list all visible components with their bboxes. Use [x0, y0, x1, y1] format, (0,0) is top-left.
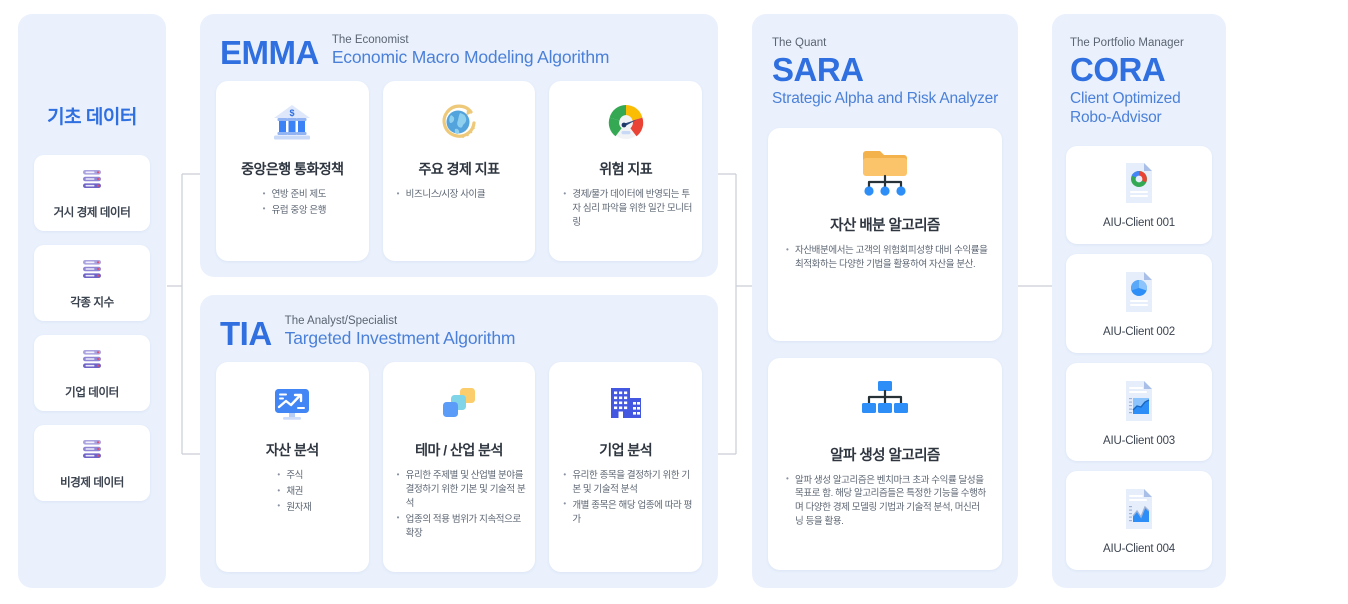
base-data-panel: 기초 데이터 거시 경제 데이터 — [18, 14, 166, 588]
doc-donut-chart-icon — [1120, 160, 1158, 211]
base-data-card-1[interactable]: 거시 경제 데이터 — [34, 155, 150, 231]
base-data-card-4[interactable]: 비경제 데이터 — [34, 425, 150, 501]
bullet-item: 자산배분에서는 고객의 위험회피성향 대비 수익률을 최적화하는 다양한 기법을… — [786, 244, 988, 272]
emma-card-title: 중앙은행 통화정책 — [241, 159, 343, 179]
bullet-item: 유리한 종목을 결정하기 위한 기본 및 기술적 분석 — [563, 469, 692, 497]
cora-client-card-1[interactable]: AIU-Client 001 — [1066, 146, 1212, 245]
gauge-icon — [603, 95, 649, 149]
cora-panel: The Portfolio Manager CORA Client Optimi… — [1052, 14, 1226, 588]
cora-client-card-3[interactable]: AIU-Client 003 — [1066, 363, 1212, 462]
diagram-root: 기초 데이터 거시 경제 데이터 — [0, 0, 1348, 604]
bullet-item: 유리한 주제별 및 산업별 분야를 결정하기 위한 기본 및 기술적 분석 — [397, 469, 526, 510]
emma-card-bullets: 경제/물가 데이터에 반영되는 투자 심리 파악을 위한 일간 모니터링 — [559, 188, 692, 231]
base-data-label: 거시 경제 데이터 — [54, 204, 131, 220]
cora-fullname: Client Optimized Robo-Advisor — [1070, 89, 1210, 128]
connector-base-to-algos — [166, 14, 200, 588]
sara-card-asset-allocation[interactable]: 자산 배분 알고리즘 자산배분에서는 고객의 위험회피성향 대비 수익률을 최적… — [768, 128, 1002, 340]
bullet-item: 경제/물가 데이터에 반영되는 투자 심리 파악을 위한 일간 모니터링 — [563, 188, 692, 229]
bullet-item: 원자재 — [277, 501, 311, 515]
cora-client-label: AIU-Client 004 — [1103, 543, 1175, 555]
bullet-item: 업종의 적용 범위가 지속적으로 확장 — [397, 513, 526, 541]
cora-header: The Portfolio Manager CORA Client Optimi… — [1066, 30, 1212, 132]
bullet-item: 연방 준비 제도 — [263, 188, 327, 202]
base-data-title: 기초 데이터 — [47, 102, 137, 129]
monitor-chart-icon — [269, 376, 315, 430]
cora-client-label: AIU-Client 001 — [1103, 217, 1175, 229]
bullet-item: 채권 — [277, 485, 311, 499]
emma-header: EMMA The Economist Economic Macro Modeli… — [216, 28, 702, 81]
building-icon — [603, 376, 649, 430]
emma-panel: EMMA The Economist Economic Macro Modeli… — [200, 14, 718, 277]
bullet-item: 개별 종목은 해당 업종에 따라 평가 — [563, 499, 692, 527]
emma-acronym: EMMA — [220, 36, 319, 69]
sara-role: The Quant — [772, 36, 1000, 51]
base-data-label: 각종 지수 — [70, 294, 114, 310]
tia-card-bullets: 유리한 주제별 및 산업별 분야를 결정하기 위한 기본 및 기술적 분석 업종… — [393, 469, 526, 542]
base-data-card-3[interactable]: 기업 데이터 — [34, 335, 150, 411]
base-data-card-2[interactable]: 각종 지수 — [34, 245, 150, 321]
emma-card-economic-indicators[interactable]: 주요 경제 지표 비즈니스/시장 사이클 — [383, 81, 536, 261]
cora-client-card-4[interactable]: AIU-Client 004 — [1066, 471, 1212, 570]
sara-card-title: 자산 배분 알고리즘 — [830, 214, 940, 235]
database-icon — [79, 166, 105, 197]
tia-card-theme-industry[interactable]: 테마 / 산업 분석 유리한 주제별 및 산업별 분야를 결정하기 위한 기본 … — [383, 362, 536, 572]
sara-fullname: Strategic Alpha and Risk Analyzer — [772, 89, 1000, 108]
org-chart-icon — [854, 376, 916, 430]
doc-pie-chart-icon — [1120, 269, 1158, 320]
tia-card-bullets: 주식 채권 원자재 — [273, 469, 311, 516]
emma-card-risk-indicators[interactable]: 위험 지표 경제/물가 데이터에 반영되는 투자 심리 파악을 위한 일간 모니… — [549, 81, 702, 261]
sara-card-title: 알파 생성 알고리즘 — [830, 444, 940, 465]
database-icon — [79, 256, 105, 287]
cora-client-card-2[interactable]: AIU-Client 002 — [1066, 254, 1212, 353]
emma-card-bullets: 비즈니스/시장 사이클 — [393, 188, 526, 204]
tia-panel: TIA The Analyst/Specialist Targeted Inve… — [200, 295, 718, 588]
doc-line-chart-icon — [1120, 486, 1158, 537]
connector-algos-to-sara — [718, 14, 752, 588]
bank-icon: $ — [269, 95, 315, 149]
tia-card-asset-analysis[interactable]: 자산 분석 주식 채권 원자재 — [216, 362, 369, 572]
bullet-item: 주식 — [277, 469, 311, 483]
tia-fullname: Targeted Investment Algorithm — [285, 328, 516, 349]
cora-client-list: AIU-Client 001 AIU-Client 002 — [1066, 146, 1212, 570]
database-icon — [79, 436, 105, 467]
sara-header: The Quant SARA Strategic Alpha and Risk … — [768, 30, 1002, 112]
layers-icon — [436, 376, 482, 430]
sara-card-bullets: 알파 생성 알고리즘은 벤치마크 초과 수익률 달성을 목표로 함. 해당 알고… — [782, 474, 988, 531]
sara-panel: The Quant SARA Strategic Alpha and Risk … — [752, 14, 1018, 588]
tia-acronym: TIA — [220, 317, 272, 350]
emma-card-row: $ 중앙은행 통화정책 — [216, 81, 702, 261]
algorithms-column: EMMA The Economist Economic Macro Modeli… — [200, 14, 718, 588]
emma-card-bullets: 연방 준비 제도 유럽 중앙 은행 — [259, 188, 327, 220]
svg-text:$: $ — [290, 108, 295, 118]
bullet-item: 비즈니스/시장 사이클 — [397, 188, 526, 202]
tia-card-row: 자산 분석 주식 채권 원자재 테마 / — [216, 362, 702, 572]
emma-card-title: 주요 경제 지표 — [418, 159, 499, 179]
bullet-item: 유럽 중앙 은행 — [263, 204, 327, 218]
emma-card-title: 위험 지표 — [599, 159, 652, 179]
emma-fullname: Economic Macro Modeling Algorithm — [332, 47, 609, 68]
globe-cycle-icon — [436, 95, 482, 149]
cora-role: The Portfolio Manager — [1070, 36, 1210, 51]
bullet-item: 알파 생성 알고리즘은 벤치마크 초과 수익률 달성을 목표로 함. 해당 알고… — [786, 474, 988, 529]
emma-role: The Economist — [332, 34, 609, 47]
tia-card-bullets: 유리한 종목을 결정하기 위한 기본 및 기술적 분석 개별 종목은 해당 업종… — [559, 469, 692, 528]
emma-card-monetary-policy[interactable]: $ 중앙은행 통화정책 — [216, 81, 369, 261]
cora-client-label: AIU-Client 003 — [1103, 435, 1175, 447]
cora-client-label: AIU-Client 002 — [1103, 326, 1175, 338]
base-data-label: 기업 데이터 — [65, 384, 119, 400]
base-data-label: 비경제 데이터 — [60, 474, 124, 490]
tia-card-title: 기업 분석 — [599, 440, 652, 460]
sara-card-alpha-generation[interactable]: 알파 생성 알고리즘 알파 생성 알고리즘은 벤치마크 초과 수익률 달성을 목… — [768, 358, 1002, 570]
tia-card-company-analysis[interactable]: 기업 분석 유리한 종목을 결정하기 위한 기본 및 기술적 분석 개별 종목은… — [549, 362, 702, 572]
doc-area-chart-icon — [1120, 378, 1158, 429]
sara-card-bullets: 자산배분에서는 고객의 위험회피성향 대비 수익률을 최적화하는 다양한 기법을… — [782, 244, 988, 274]
folder-hierarchy-icon — [854, 146, 916, 200]
tia-role: The Analyst/Specialist — [285, 315, 516, 328]
tia-card-title: 테마 / 산업 분석 — [415, 440, 503, 460]
sara-card-list: 자산 배분 알고리즘 자산배분에서는 고객의 위험회피성향 대비 수익률을 최적… — [768, 128, 1002, 570]
connector-sara-to-cora — [1018, 14, 1052, 588]
cora-acronym: CORA — [1070, 51, 1210, 89]
tia-header: TIA The Analyst/Specialist Targeted Inve… — [216, 309, 702, 362]
sara-acronym: SARA — [772, 51, 1000, 89]
database-icon — [79, 346, 105, 377]
tia-card-title: 자산 분석 — [266, 440, 319, 460]
